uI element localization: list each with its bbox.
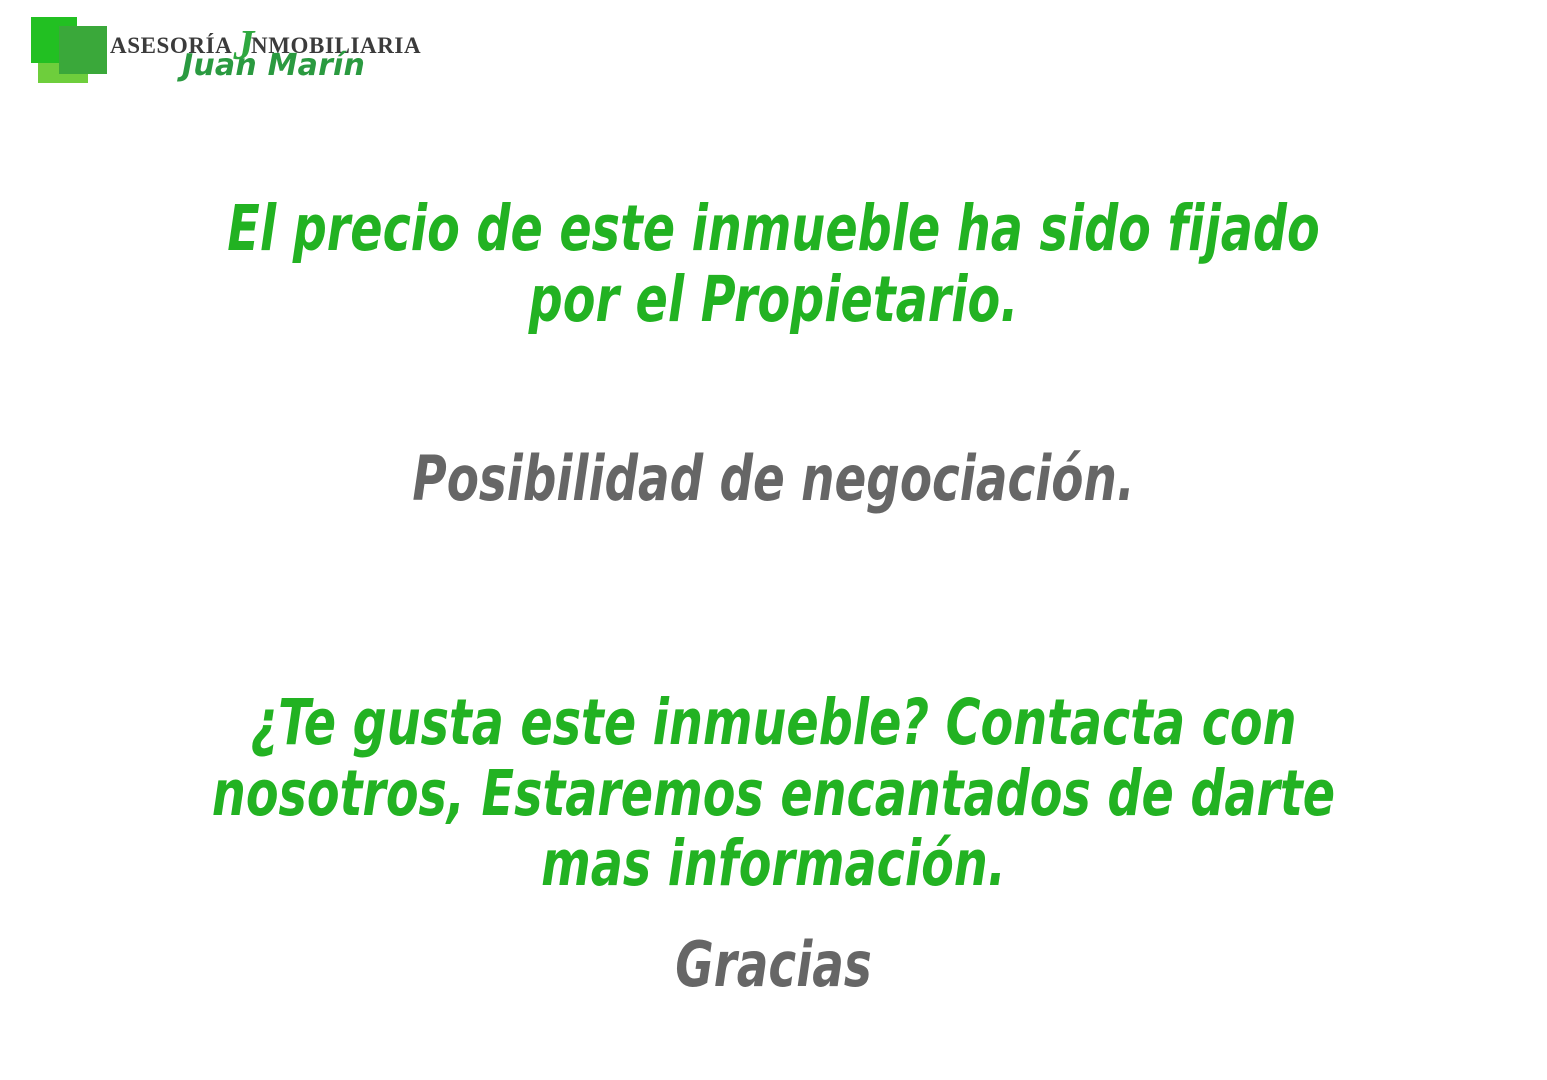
slide-canvas: ASESORÍAJNMOBILIARIA Juan Marín El preci… (0, 0, 1547, 1080)
negotiation-note-text: Posibilidad de negociación. (124, 444, 1423, 513)
closing-text: Gracias (124, 930, 1423, 999)
logo-square-dark-green (59, 26, 107, 74)
contact-call-text: ¿Te gusta este inmueble? Contacta con no… (124, 688, 1423, 900)
price-statement-text: El precio de este inmueble ha sido fijad… (124, 194, 1423, 335)
slide-content: El precio de este inmueble ha sido fijad… (0, 0, 1547, 1080)
